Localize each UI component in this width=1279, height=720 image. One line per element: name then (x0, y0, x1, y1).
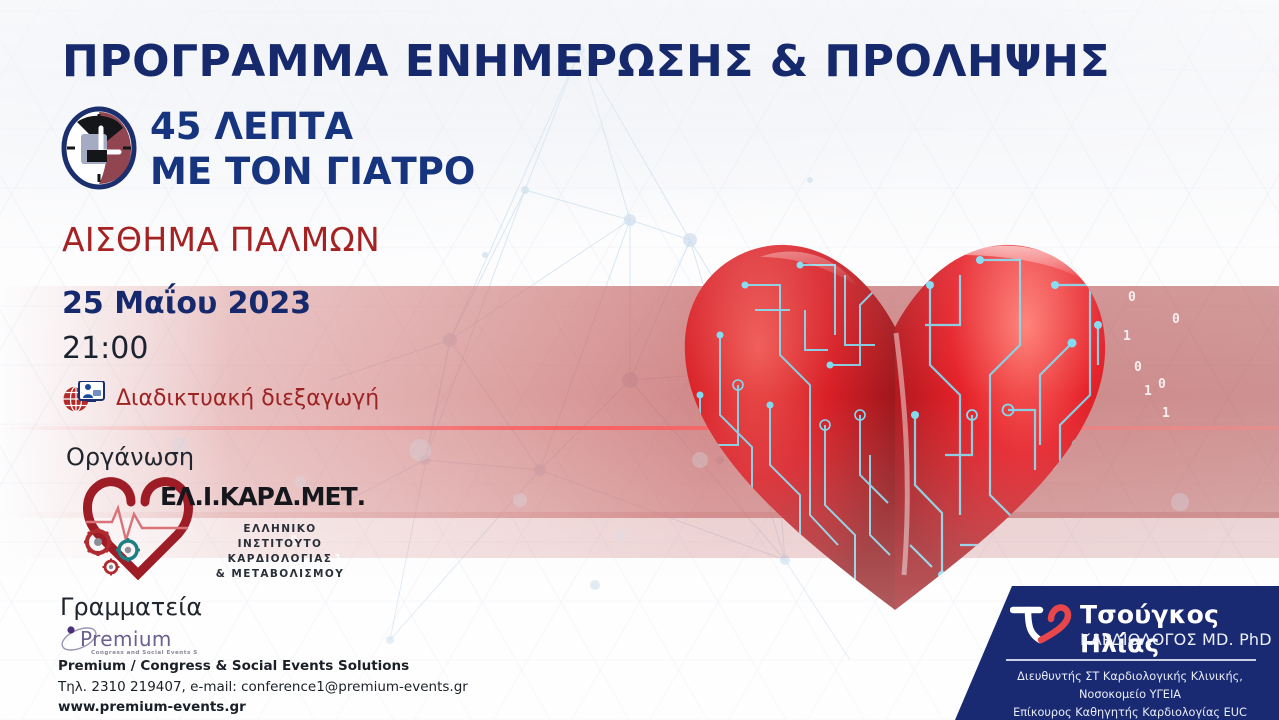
svg-text:Congress and Social Events Sol: Congress and Social Events Solutions (91, 650, 198, 656)
secretariat-contact: Premium / Congress & Social Events Solut… (58, 657, 468, 717)
secretariat-line-1: Premium / Congress & Social Events Solut… (58, 657, 468, 677)
event-topic: ΑΙΣΘΗΜΑ ΠΑΛΜΩΝ (62, 220, 380, 259)
page-title: ΠΡΟΓΡΑΜΜΑ ΕΝΗΜΕΡΩΣΗΣ & ΠΡΟΛΗΨΗΣ (62, 36, 1152, 87)
organizer-sub-line-1: ΕΛΛΗΝΙΚΟ (210, 522, 350, 537)
organizer-sub-line-4: & ΜΕΤΑΒΟΛΙΣΜΟΥ (210, 567, 350, 582)
clock-heart-logo-icon (57, 106, 141, 190)
event-date: 25 Μαΐου 2023 (62, 286, 311, 321)
organizer-label: Οργάνωση (66, 443, 194, 471)
doctor-credential-1: Διευθυντής ΣΤ Καρδιολογικής Κλινικής, Νο… (985, 668, 1275, 704)
globe-webinar-icon (62, 381, 108, 415)
organizer-sub-line-2: ΙΝΣΤΙΤΟΥΤΟ (210, 537, 350, 552)
secretariat-label: Γραμματεία (60, 593, 202, 621)
event-poster: 0 1 0 0 1 0 1 0 0 1 0 (0, 0, 1279, 720)
subtitle-line-2: ΜΕ ΤΟΝ ΓΙΑΤΡΟ (150, 149, 475, 194)
organizer-logo-name: ΕΛ.Ι.ΚΑΡΔ.ΜΕΤ. (160, 482, 365, 511)
secretariat-line-2: Τηλ. 2310 219407, e-mail: conference1@pr… (58, 677, 468, 697)
subtitle-line-1: 45 ΛΕΠΤΑ (150, 104, 475, 149)
organizer-sub-line-3: ΚΑΡΔΙΟΛΟΓΙΑΣ (210, 552, 350, 567)
doctor-credentials: Διευθυντής ΣΤ Καρδιολογικής Κλινικής, Νο… (985, 668, 1275, 720)
online-mode-row: Διαδικτυακή διεξαγωγή (62, 381, 379, 415)
doctor-divider (1006, 659, 1256, 661)
premium-orbit-logo-icon: Premium Congress and Social Events Solut… (58, 622, 198, 658)
organizer-logo-subtitle: ΕΛΛΗΝΙΚΟ ΙΝΣΤΙΤΟΥΤΟ ΚΑΡΔΙΟΛΟΓΙΑΣ & ΜΕΤΑΒ… (210, 522, 350, 582)
doctor-name: Τσούγκος Ηλίας (1080, 600, 1279, 658)
doctor-credential-2: Επίκουρος Καθηγητής Καρδιολογίας EUC (985, 704, 1275, 720)
doctor-role: ΚΑΡΔΙΟΛΟΓΟΣ MD. PhD (1080, 630, 1272, 649)
online-mode-label: Διαδικτυακή διεξαγωγή (116, 386, 379, 411)
event-time: 21:00 (62, 331, 148, 366)
secretariat-line-3[interactable]: www.premium-events.gr (58, 697, 468, 717)
svg-text:Premium: Premium (80, 627, 172, 651)
tau-heart-logo-icon (1010, 602, 1076, 646)
event-subtitle: 45 ΛΕΠΤΑ ΜΕ ΤΟΝ ΓΙΑΤΡΟ (150, 104, 475, 194)
